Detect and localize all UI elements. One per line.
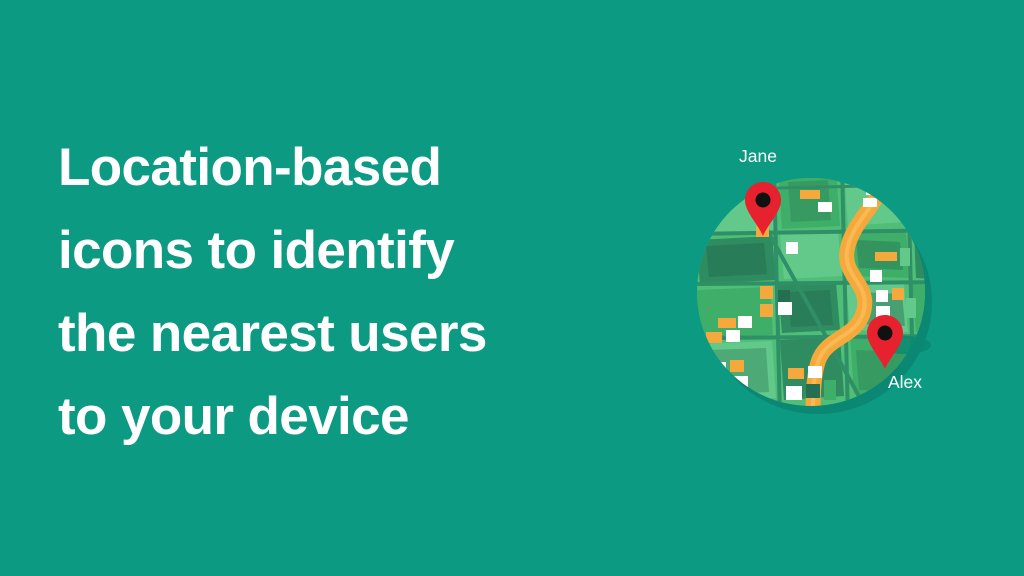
slide-root: Location-based icons to identify the nea…: [0, 0, 1024, 576]
pin-jane-label: Jane: [739, 146, 777, 166]
pin-alex-dot: [878, 326, 893, 341]
pin-alex-label: Alex: [888, 372, 922, 392]
pin-jane-dot: [756, 193, 771, 208]
location-map-illustration: Jane Alex: [660, 130, 960, 420]
page-title: Location-based icons to identify the nea…: [58, 126, 618, 458]
